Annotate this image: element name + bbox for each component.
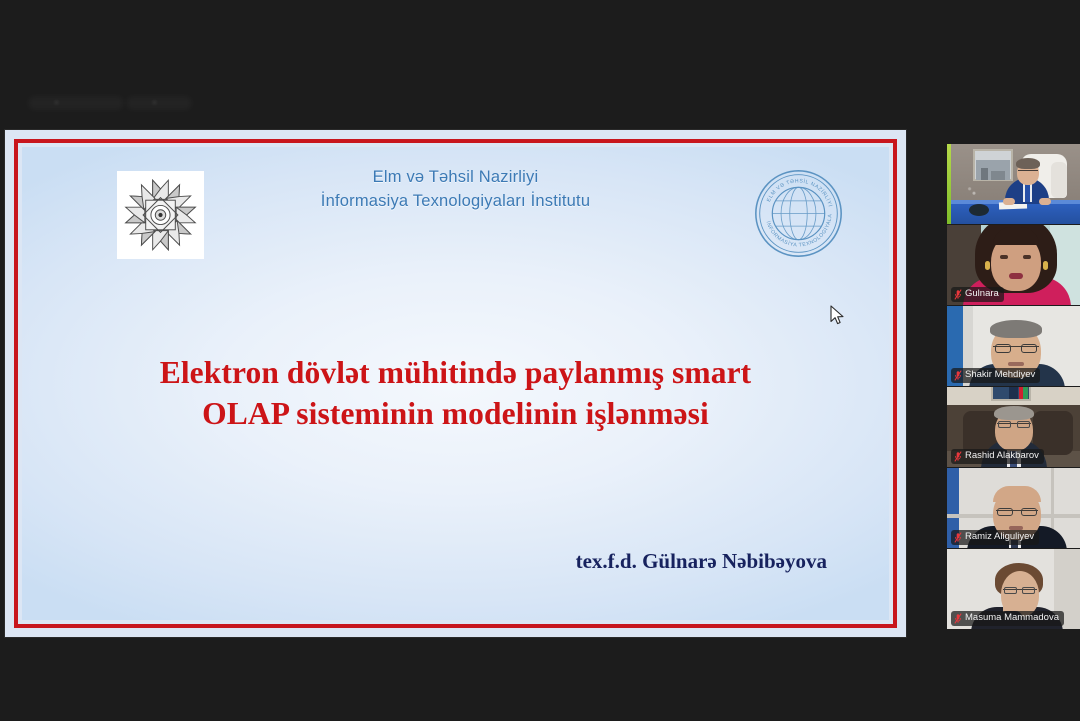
slide-title-line2: OLAP sisteminin modelinin işlənməsi: [62, 393, 849, 434]
video-tile[interactable]: Masuma Mammadova: [947, 549, 1080, 629]
microphone-muted-icon: [954, 532, 962, 543]
participant-name: Rashid Alakbarov: [965, 450, 1039, 462]
participant-name-label: Masuma Mammadova: [951, 611, 1064, 626]
participant-filmstrip[interactable]: Gulnara: [947, 144, 1080, 633]
faded-toolbar-remnant: [28, 96, 124, 110]
slide-canvas: Elm və Təhsil Nazirliyi İnformasiya Texn…: [22, 147, 889, 620]
shared-screen-slide[interactable]: Elm və Təhsil Nazirliyi İnformasiya Texn…: [5, 130, 906, 637]
faded-toolbar-dot: [54, 100, 59, 105]
video-feed: [947, 144, 1080, 224]
video-tile[interactable]: Gulnara: [947, 225, 1080, 305]
participant-name: Shakir Mehdiyev: [965, 369, 1035, 381]
ministry-globe-seal: ELM VƏ TƏHSİL NAZİRLİYİ İNFORMASİYA TEXN…: [750, 165, 847, 262]
mouse-pointer-icon: [830, 305, 846, 327]
participant-name-label: Ramiz Aliguliyev: [951, 530, 1039, 545]
microphone-muted-icon: [954, 370, 962, 381]
microphone-muted-icon: [954, 613, 962, 624]
microphone-muted-icon: [954, 451, 962, 462]
active-speaker-indicator: [947, 144, 951, 224]
participant-name-label: Gulnara: [951, 287, 1004, 302]
presenter-name: tex.f.d. Gülnarə Nəbibəyova: [576, 549, 827, 574]
video-tile[interactable]: [947, 144, 1080, 224]
video-tile[interactable]: Shakir Mehdiyev: [947, 306, 1080, 386]
participant-name: Gulnara: [965, 288, 999, 300]
svg-text:ELM VƏ TƏHSİL NAZİRLİYİ: ELM VƏ TƏHSİL NAZİRLİYİ: [766, 178, 834, 208]
faded-toolbar-dot: [152, 100, 157, 105]
page-title: Elektron dövlət mühitində paylanmış smar…: [62, 352, 849, 434]
video-tile[interactable]: Rashid Alakbarov: [947, 387, 1080, 467]
slide-red-border: Elm və Təhsil Nazirliyi İnformasiya Texn…: [14, 139, 897, 628]
slide-title-line1: Elektron dövlət mühitində paylanmış smar…: [160, 355, 752, 390]
participant-name: Ramiz Aliguliyev: [965, 531, 1034, 543]
screen-share-view: Elm və Təhsil Nazirliyi İnformasiya Texn…: [0, 0, 1080, 721]
faded-toolbar-remnant: [126, 96, 192, 110]
microphone-muted-icon: [954, 289, 962, 300]
participant-name-label: Rashid Alakbarov: [951, 449, 1044, 464]
video-tile[interactable]: Ramiz Aliguliyev: [947, 468, 1080, 548]
slide-header-line1: Elm və Təhsil Nazirliyi: [373, 168, 539, 186]
participant-name: Masuma Mammadova: [965, 612, 1059, 624]
participant-name-label: Shakir Mehdiyev: [951, 368, 1040, 383]
